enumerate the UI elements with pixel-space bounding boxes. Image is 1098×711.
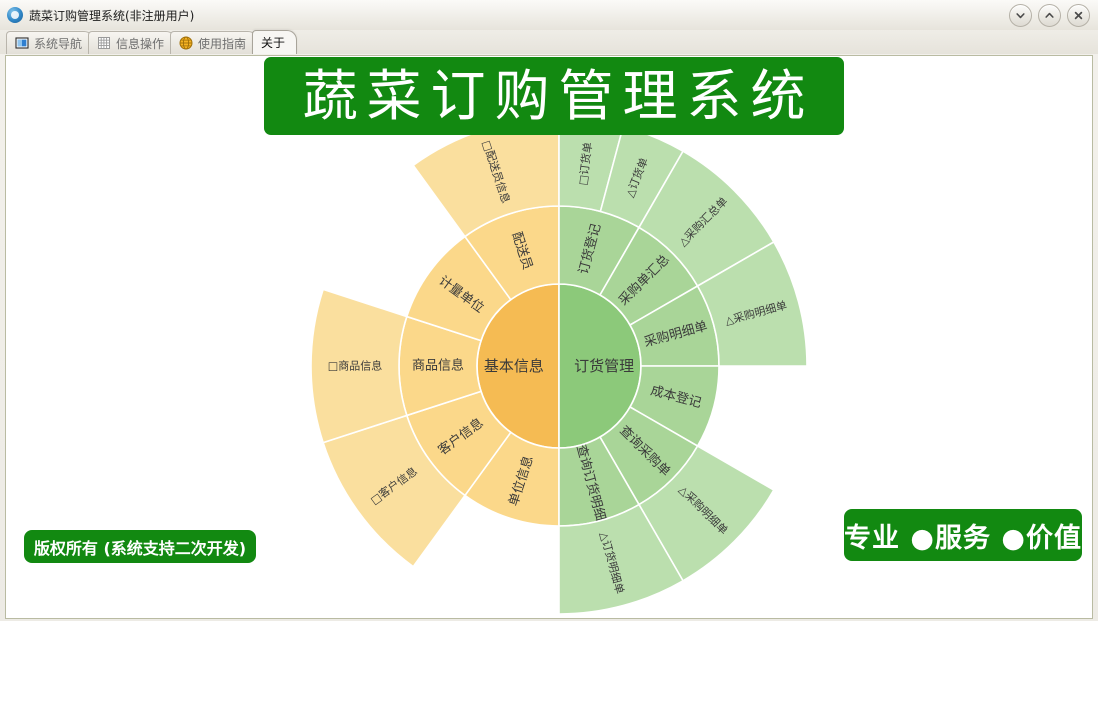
tab-label: 系统导航 xyxy=(34,35,82,52)
title-bar: 蔬菜订购管理系统(非注册用户) xyxy=(0,0,1098,31)
sunburst-mid-label: 商品信息 xyxy=(412,358,464,374)
monitor-icon xyxy=(15,36,29,50)
sunburst-center-label: 订货管理 xyxy=(574,357,634,375)
window-controls xyxy=(1009,4,1090,27)
copyright-text: 版权所有 (系统支持二次开发) xyxy=(34,535,246,559)
sunburst-center-label: 基本信息 xyxy=(484,357,544,375)
status-bar xyxy=(0,621,1098,711)
tab-label: 关于 xyxy=(261,34,285,51)
page-title: 蔬菜订购管理系统 xyxy=(293,69,814,124)
page-title-banner: 蔬菜订购管理系统 xyxy=(264,57,844,135)
tab-information-operations[interactable]: 信息操作 xyxy=(88,31,176,54)
copyright-badge: 版权所有 (系统支持二次开发) xyxy=(24,530,256,563)
app-logo-icon xyxy=(7,7,23,23)
close-button[interactable] xyxy=(1067,4,1090,27)
close-x-icon xyxy=(1073,10,1084,21)
tab-user-guide[interactable]: 使用指南 xyxy=(170,31,258,54)
window-title: 蔬菜订购管理系统(非注册用户) xyxy=(29,7,194,24)
chevron-up-icon xyxy=(1044,10,1055,21)
restore-button[interactable] xyxy=(1038,4,1061,27)
slogan-text: 专业 ●服务 ●价值 xyxy=(844,516,1082,555)
sunburst-leaf-label: □商品信息 xyxy=(328,359,382,373)
slogan-badge: 专业 ●服务 ●价值 xyxy=(844,509,1082,561)
globe-icon xyxy=(179,36,193,50)
application-window: 蔬菜订购管理系统(非注册用户) xyxy=(0,0,1098,711)
about-page-content: 基本信息单位信息客户信息□客户信息商品信息□商品信息计量单位配送员□配送员信息订… xyxy=(5,55,1093,619)
tab-label: 使用指南 xyxy=(198,35,246,52)
chevron-down-icon xyxy=(1015,10,1026,21)
tab-system-navigation[interactable]: 系统导航 xyxy=(6,31,94,54)
tab-about[interactable]: 关于 xyxy=(252,30,297,54)
grid-icon xyxy=(97,36,111,50)
tab-label: 信息操作 xyxy=(116,35,164,52)
minimize-button[interactable] xyxy=(1009,4,1032,27)
tab-bar: 系统导航 信息操作 使用指南 关于 xyxy=(0,30,1098,54)
